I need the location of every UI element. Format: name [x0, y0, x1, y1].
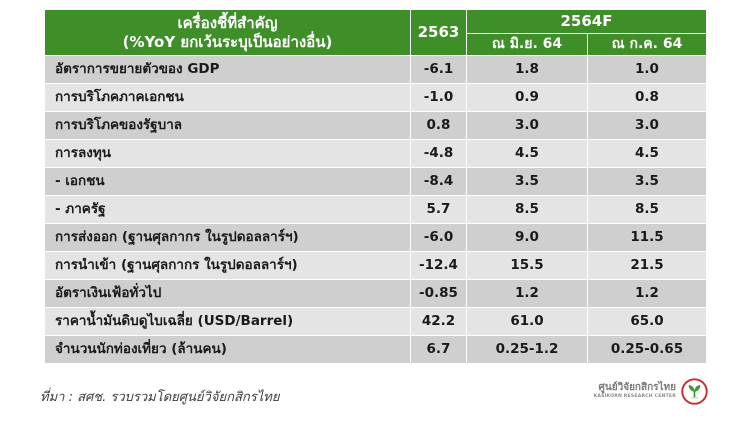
cell-jul-64: 1.2 [588, 280, 707, 308]
sprout-in-circle-icon [681, 378, 708, 405]
cell-2563: -0.85 [411, 280, 467, 308]
table-row: จำนวนนักท่องเที่ยว (ล้านคน)6.70.25-1.20.… [45, 336, 707, 364]
header-forecast-jul-64: ณ ก.ค. 64 [588, 33, 707, 56]
source-note: ที่มา : สศช. รวบรวมโดยศูนย์วิจัยกสิกรไทย [40, 386, 279, 407]
economic-indicators-table: เครื่องชี้ที่สำคัญ (%YoY ยกเว้นระบุเป็นอ… [44, 9, 707, 364]
economic-indicators-table-wrapper: เครื่องชี้ที่สำคัญ (%YoY ยกเว้นระบุเป็นอ… [44, 9, 706, 364]
cell-jun-64: 0.9 [467, 84, 588, 112]
table-row: การบริโภคของรัฐบาล0.83.03.0 [45, 112, 707, 140]
header-forecast-jun-64: ณ มิ.ย. 64 [467, 33, 588, 56]
row-label: ราคาน้ำมันดิบดูไบเฉลี่ย (USD/Barrel) [45, 308, 411, 336]
cell-jul-64: 65.0 [588, 308, 707, 336]
cell-jun-64: 4.5 [467, 140, 588, 168]
cell-2563: -1.0 [411, 84, 467, 112]
cell-jul-64: 1.0 [588, 56, 707, 84]
cell-2563: -4.8 [411, 140, 467, 168]
cell-jul-64: 3.0 [588, 112, 707, 140]
cell-jun-64: 3.5 [467, 168, 588, 196]
cell-2563: 42.2 [411, 308, 467, 336]
row-label: จำนวนนักท่องเที่ยว (ล้านคน) [45, 336, 411, 364]
table-header: เครื่องชี้ที่สำคัญ (%YoY ยกเว้นระบุเป็นอ… [45, 10, 707, 56]
table-row: อัตราการขยายตัวของ GDP-6.11.81.0 [45, 56, 707, 84]
table-row: การนำเข้า (ฐานศุลกากร ในรูปดอลลาร์ฯ)-12.… [45, 252, 707, 280]
row-label: - เอกชน [45, 168, 411, 196]
header-year-2563: 2563 [411, 10, 467, 56]
table-body: อัตราการขยายตัวของ GDP-6.11.81.0การบริโภ… [45, 56, 707, 364]
cell-jul-64: 0.25-0.65 [588, 336, 707, 364]
header-indicator-title: เครื่องชี้ที่สำคัญ (%YoY ยกเว้นระบุเป็นอ… [45, 10, 411, 56]
cell-jun-64: 61.0 [467, 308, 588, 336]
cell-jun-64: 1.8 [467, 56, 588, 84]
header-row-top: เครื่องชี้ที่สำคัญ (%YoY ยกเว้นระบุเป็นอ… [45, 10, 707, 34]
table-row: ราคาน้ำมันดิบดูไบเฉลี่ย (USD/Barrel)42.2… [45, 308, 707, 336]
row-label: อัตราการขยายตัวของ GDP [45, 56, 411, 84]
cell-2563: 5.7 [411, 196, 467, 224]
cell-2563: 6.7 [411, 336, 467, 364]
header-indicator-title-line1: เครื่องชี้ที่สำคัญ [49, 14, 406, 33]
table-row: การส่งออก (ฐานศุลกากร ในรูปดอลลาร์ฯ)-6.0… [45, 224, 707, 252]
table-row: - เอกชน-8.43.53.5 [45, 168, 707, 196]
cell-2563: 0.8 [411, 112, 467, 140]
row-label: อัตราเงินเฟ้อทั่วไป [45, 280, 411, 308]
cell-2563: -12.4 [411, 252, 467, 280]
cell-jul-64: 21.5 [588, 252, 707, 280]
cell-jun-64: 9.0 [467, 224, 588, 252]
cell-jul-64: 3.5 [588, 168, 707, 196]
cell-2563: -8.4 [411, 168, 467, 196]
logo-text: ศูนย์วิจัยกสิกรไทย KASIKORN RESEARCH CEN… [594, 383, 676, 399]
row-label: การบริโภคของรัฐบาล [45, 112, 411, 140]
table-row: การบริโภคภาคเอกชน-1.00.90.8 [45, 84, 707, 112]
row-label: การนำเข้า (ฐานศุลกากร ในรูปดอลลาร์ฯ) [45, 252, 411, 280]
cell-jul-64: 11.5 [588, 224, 707, 252]
table-row: - ภาครัฐ5.78.58.5 [45, 196, 707, 224]
cell-jul-64: 8.5 [588, 196, 707, 224]
header-indicator-title-line2: (%YoY ยกเว้นระบุเป็นอย่างอื่น) [49, 33, 406, 52]
logo-name-english: KASIKORN RESEARCH CENTER [594, 395, 676, 400]
cell-jun-64: 8.5 [467, 196, 588, 224]
cell-jun-64: 1.2 [467, 280, 588, 308]
row-label: การส่งออก (ฐานศุลกากร ในรูปดอลลาร์ฯ) [45, 224, 411, 252]
table-row: อัตราเงินเฟ้อทั่วไป-0.851.21.2 [45, 280, 707, 308]
cell-jun-64: 3.0 [467, 112, 588, 140]
kasikorn-research-center-logo: ศูนย์วิจัยกสิกรไทย KASIKORN RESEARCH CEN… [594, 378, 708, 405]
row-label: การลงทุน [45, 140, 411, 168]
row-label: - ภาครัฐ [45, 196, 411, 224]
row-label: การบริโภคภาคเอกชน [45, 84, 411, 112]
cell-jun-64: 15.5 [467, 252, 588, 280]
table-row: การลงทุน-4.84.54.5 [45, 140, 707, 168]
cell-2563: -6.0 [411, 224, 467, 252]
header-year-2564f: 2564F [467, 10, 707, 34]
slide-canvas: เครื่องชี้ที่สำคัญ (%YoY ยกเว้นระบุเป็นอ… [0, 0, 750, 422]
cell-2563: -6.1 [411, 56, 467, 84]
cell-jul-64: 4.5 [588, 140, 707, 168]
cell-jul-64: 0.8 [588, 84, 707, 112]
cell-jun-64: 0.25-1.2 [467, 336, 588, 364]
logo-name-thai: ศูนย์วิจัยกสิกรไทย [594, 383, 676, 394]
